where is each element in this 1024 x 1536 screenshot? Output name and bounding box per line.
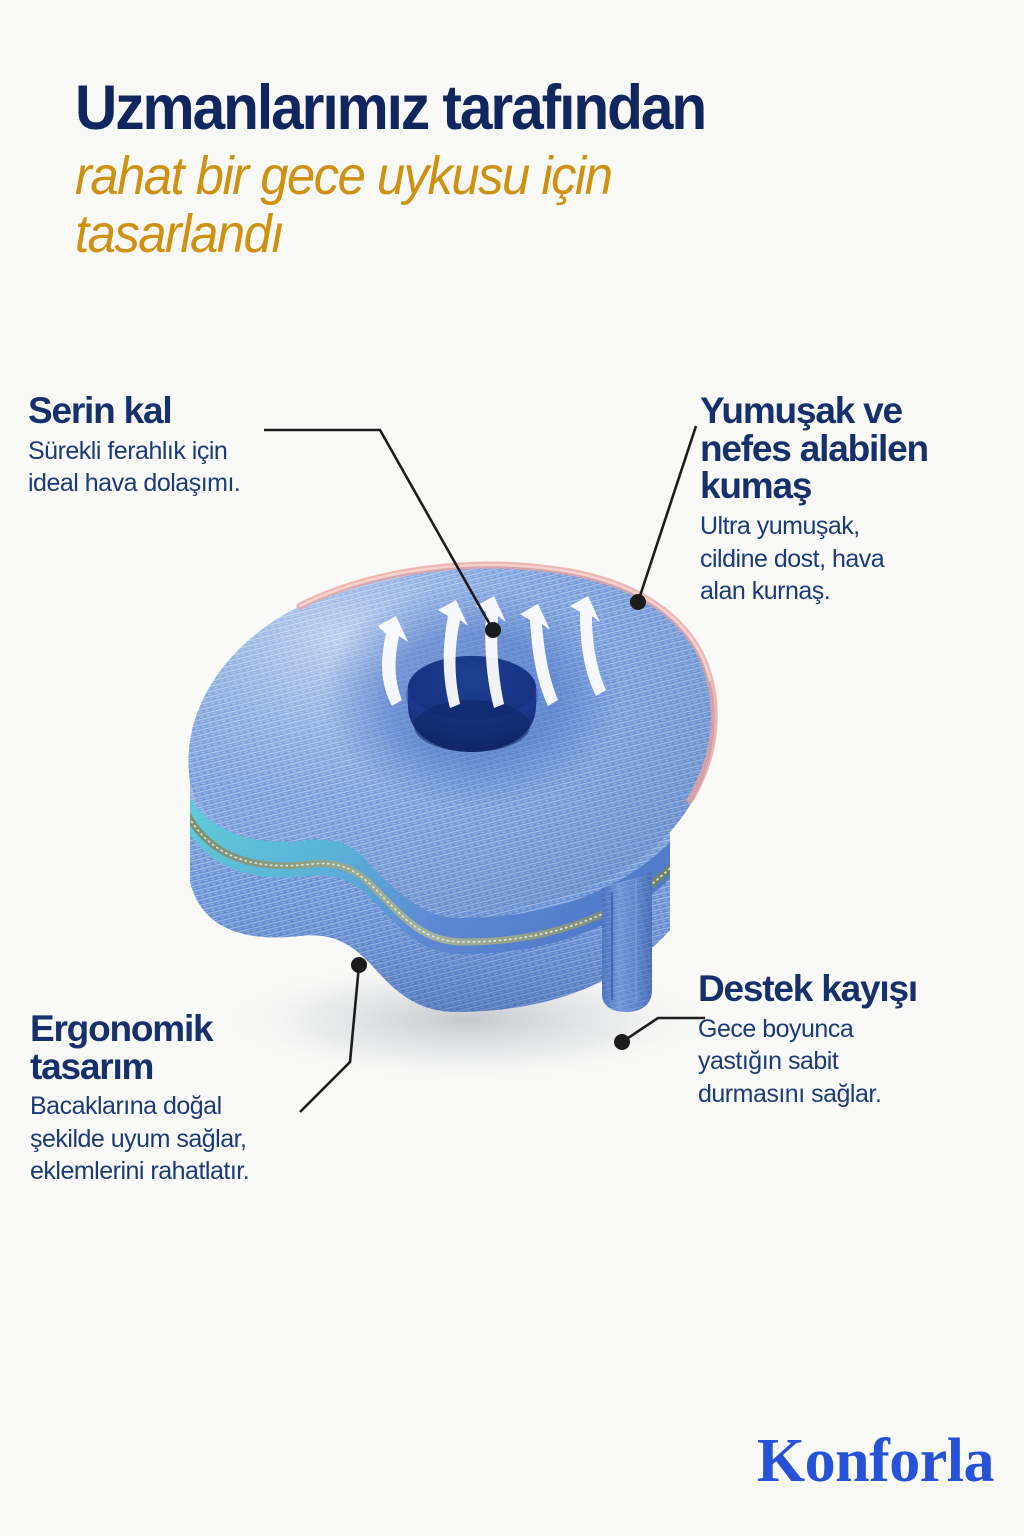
callout-fabric-body-line2: cildine dost, hava [700,543,1022,576]
callout-ergonomic-body: Bacaklarına doğal şekilde uyum sağlar, e… [30,1090,380,1188]
ventilation-hole [406,656,538,752]
pillow-support-strap [602,872,652,1012]
callout-ergonomic-body-line2: şekilde uyum sağlar, [30,1123,380,1156]
headline-primary: Uzmanlarımız tarafından [75,78,912,140]
callout-ergonomic-title: Ergonomik tasarım [30,1010,380,1085]
headline-secondary: rahat bir gece uykusu için tasarlandı [75,148,921,264]
callout-strap-body-line2: yastığın sabit [698,1045,1024,1078]
callout-fabric: Yumuşak ve nefes alabilen kumaş Ultra yu… [700,392,1022,608]
headline-secondary-line1: rahat bir gece uykusu için [75,148,921,206]
callout-strap-body: Gece boyunca yastığın sabit durmasını sa… [698,1013,1024,1111]
headline-secondary-line2: tasarlandı [75,206,921,264]
callout-fabric-body: Ultra yumuşak, cildine dost, hava alan k… [700,510,1022,608]
callout-fabric-title-line1: Yumuşak ve [700,392,1022,430]
callout-cool-title: Serin kal [28,392,358,430]
callout-fabric-title-line3: kumaş [700,467,1022,505]
callout-cool: Serin kal Sürekli ferahlık için ideal ha… [28,392,358,500]
callout-strap-body-line1: Gece boyunca [698,1013,1024,1046]
callout-fabric-title: Yumuşak ve nefes alabilen kumaş [700,392,1022,505]
callout-cool-body-line1: Sürekli ferahlık için [28,435,358,468]
callout-ergonomic-body-line1: Bacaklarına doğal [30,1090,380,1123]
callout-ergonomic-body-line3: eklemlerini rahatlatır. [30,1155,380,1188]
headline-block: Uzmanlarımız tarafından rahat bir gece u… [75,78,975,263]
callout-ergonomic-title-line1: Ergonomik [30,1010,380,1048]
callout-cool-body: Sürekli ferahlık için ideal hava dolaşım… [28,435,358,500]
callout-ergonomic-title-line2: tasarım [30,1048,380,1086]
callout-cool-body-line2: ideal hava dolaşımı. [28,467,358,500]
callout-strap-body-line3: durmasını sağlar. [698,1078,1024,1111]
brand-logo: Konforla [757,1430,994,1492]
callout-strap-title: Destek kayışı [698,970,1024,1008]
callout-strap: Destek kayışı Gece boyunca yastığın sabi… [698,970,1024,1110]
infographic-canvas: Uzmanlarımız tarafından rahat bir gece u… [0,0,1024,1536]
callout-ergonomic: Ergonomik tasarım Bacaklarına doğal şeki… [30,1010,380,1188]
callout-fabric-body-line1: Ultra yumuşak, [700,510,1022,543]
callout-fabric-title-line2: nefes alabilen [700,430,1022,468]
callout-fabric-body-line3: alan kurnaş. [700,575,1022,608]
